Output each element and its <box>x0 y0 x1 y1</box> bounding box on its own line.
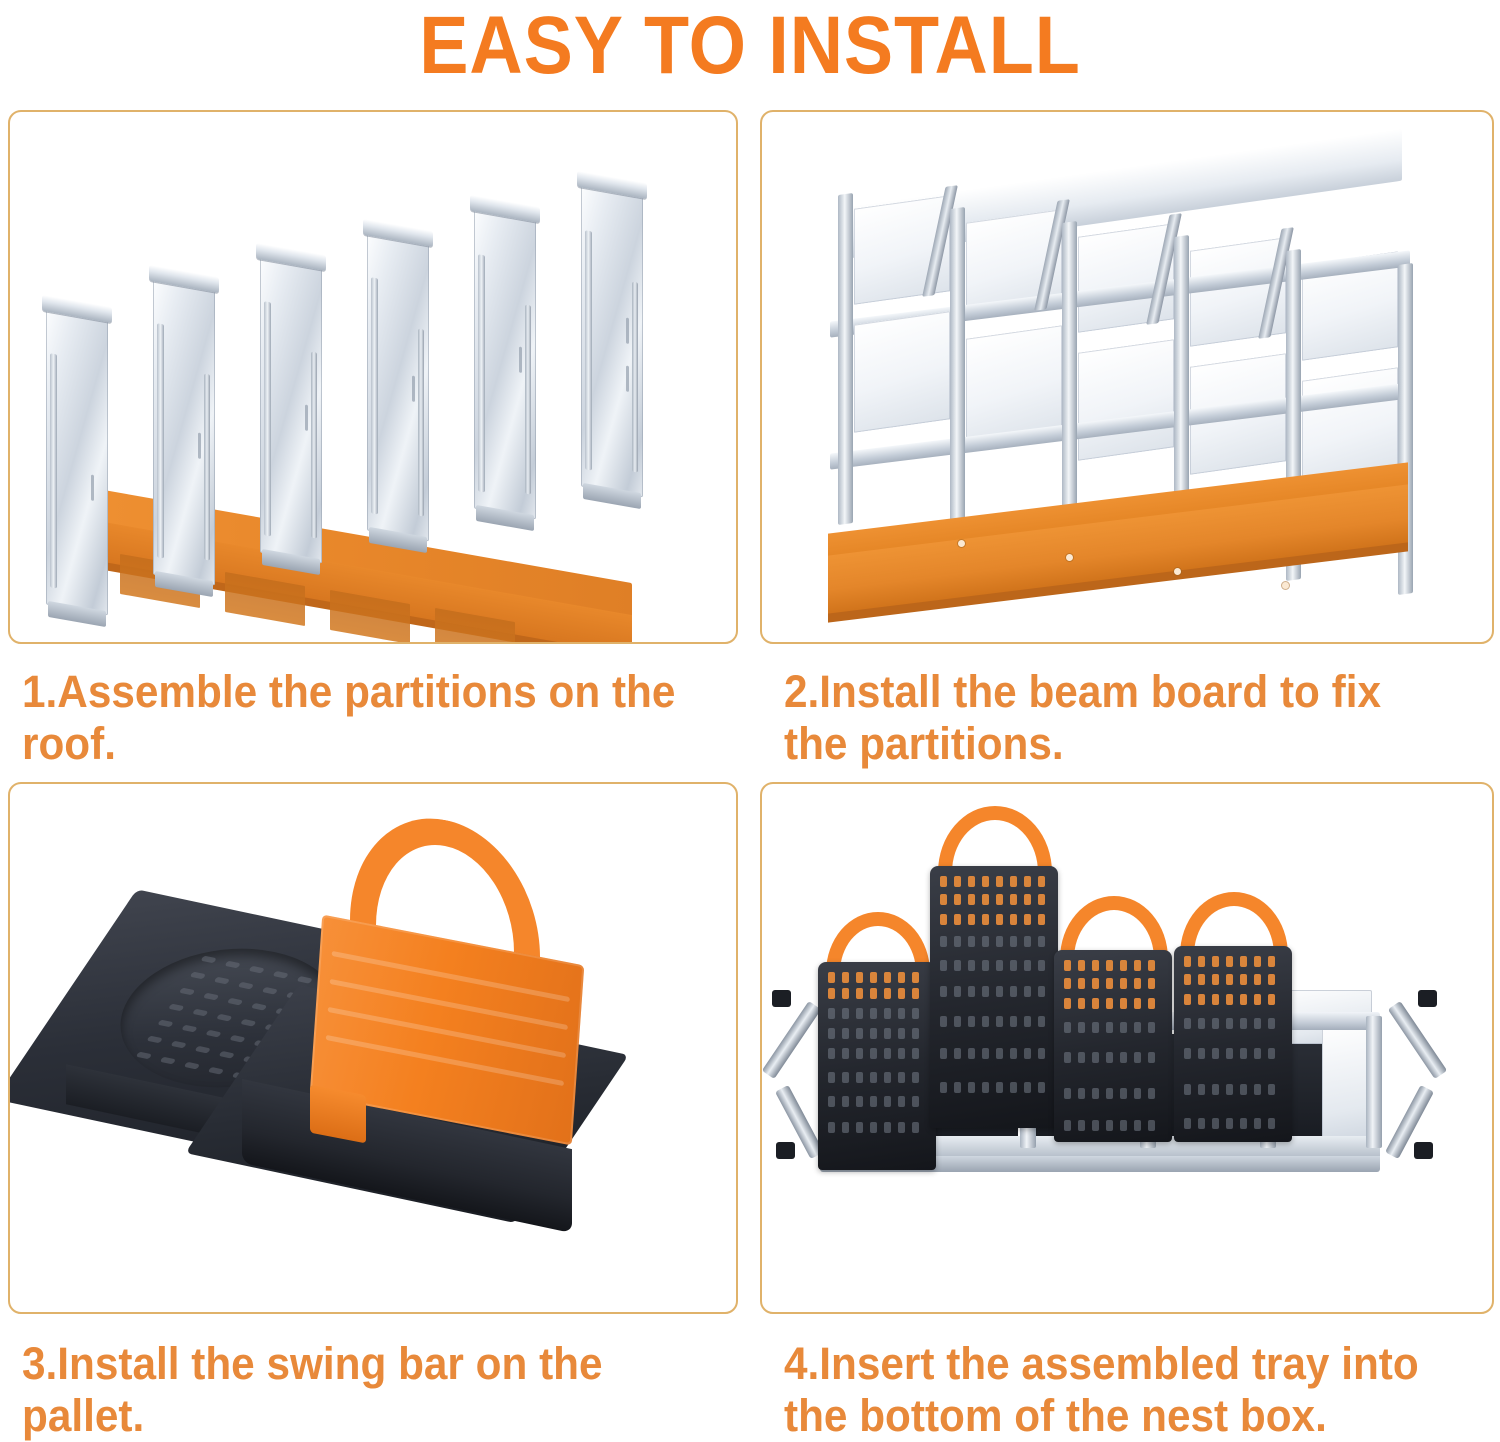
swing-bar-rib <box>332 951 570 1002</box>
swing-bar-rib <box>326 1035 564 1086</box>
bay-panel <box>1078 339 1174 460</box>
mounting-leg-cap <box>1418 990 1437 1007</box>
step-4-caption: 4.Insert the assembled tray into the bot… <box>784 1338 1448 1442</box>
partition-brace <box>204 374 210 561</box>
bay-panel <box>854 311 950 432</box>
step-1-caption: 1.Assemble the partitions on the roof. <box>22 666 691 770</box>
swing-bar-pivot-foot <box>310 1085 366 1144</box>
install-step-1: 1.Assemble the partitions on the roof. <box>8 110 738 760</box>
partition-post <box>950 207 965 539</box>
partition-slot <box>626 366 629 393</box>
base-bolt <box>958 540 965 547</box>
nest-tray <box>1174 946 1292 1142</box>
partition-blade <box>367 229 429 542</box>
partition-blade <box>581 181 643 498</box>
swing-bar-rib <box>328 1007 566 1058</box>
base-bolt <box>1174 568 1181 575</box>
install-step-2: 2.Install the beam board to fix the part… <box>760 110 1494 760</box>
partition-brace <box>50 353 57 588</box>
partition-post <box>838 193 853 525</box>
step-4-image-panel <box>760 782 1494 1314</box>
install-step-3: 3.Install the swing bar on the pallet. <box>8 782 738 1434</box>
partition-brace <box>632 281 638 472</box>
step-3-caption: 3.Install the swing bar on the pallet. <box>22 1338 691 1442</box>
partition-blade <box>153 275 215 586</box>
partition-brace <box>478 254 485 492</box>
swing-bar <box>310 820 610 1150</box>
mounting-leg <box>762 1001 821 1079</box>
partition-brace <box>157 323 164 558</box>
partition-slot <box>519 346 522 373</box>
partition-slot <box>626 317 629 344</box>
install-steps-grid: 1.Assemble the partitions on the roof. <box>0 0 1500 1440</box>
swing-bar-on-pallet-illustration <box>10 784 736 1312</box>
step-3-image-panel <box>8 782 738 1314</box>
step-2-caption: 2.Install the beam board to fix the part… <box>784 666 1448 770</box>
install-step-4: 4.Insert the assembled tray into the bot… <box>760 782 1494 1434</box>
partition-brace <box>585 230 592 470</box>
tray-inserted-into-nest-box-illustration <box>762 784 1492 1312</box>
partition-brace <box>371 278 378 515</box>
mounting-leg-cap <box>1414 1142 1433 1159</box>
step-2-image-panel <box>760 110 1494 644</box>
partition-slot <box>91 474 94 501</box>
step-1-image-panel <box>8 110 738 644</box>
mounting-leg <box>1388 1001 1447 1079</box>
partition-brace <box>311 352 317 539</box>
partition-slot <box>305 404 308 431</box>
partition-slot <box>198 432 201 459</box>
nest-tray <box>1054 950 1172 1142</box>
partition-blade <box>474 205 536 520</box>
partition-brace <box>525 305 531 495</box>
mounting-leg-cap <box>776 1142 795 1159</box>
mounting-leg-cap <box>772 990 791 1007</box>
nest-box-frame <box>808 168 1436 588</box>
beam-board-frame-illustration <box>762 112 1492 642</box>
frame-post <box>1366 1016 1382 1148</box>
nest-tray <box>930 866 1058 1128</box>
partition-slot <box>412 375 415 402</box>
partition-blade <box>260 253 322 564</box>
nest-tray <box>818 962 936 1170</box>
base-bolt <box>1066 554 1073 561</box>
partition-blade <box>46 305 108 616</box>
partition-brace <box>418 328 424 516</box>
partitions-on-roof-illustration <box>10 112 736 642</box>
base-bolt <box>1282 582 1289 589</box>
swing-bar-rib <box>330 979 568 1030</box>
partition-brace <box>264 301 271 536</box>
